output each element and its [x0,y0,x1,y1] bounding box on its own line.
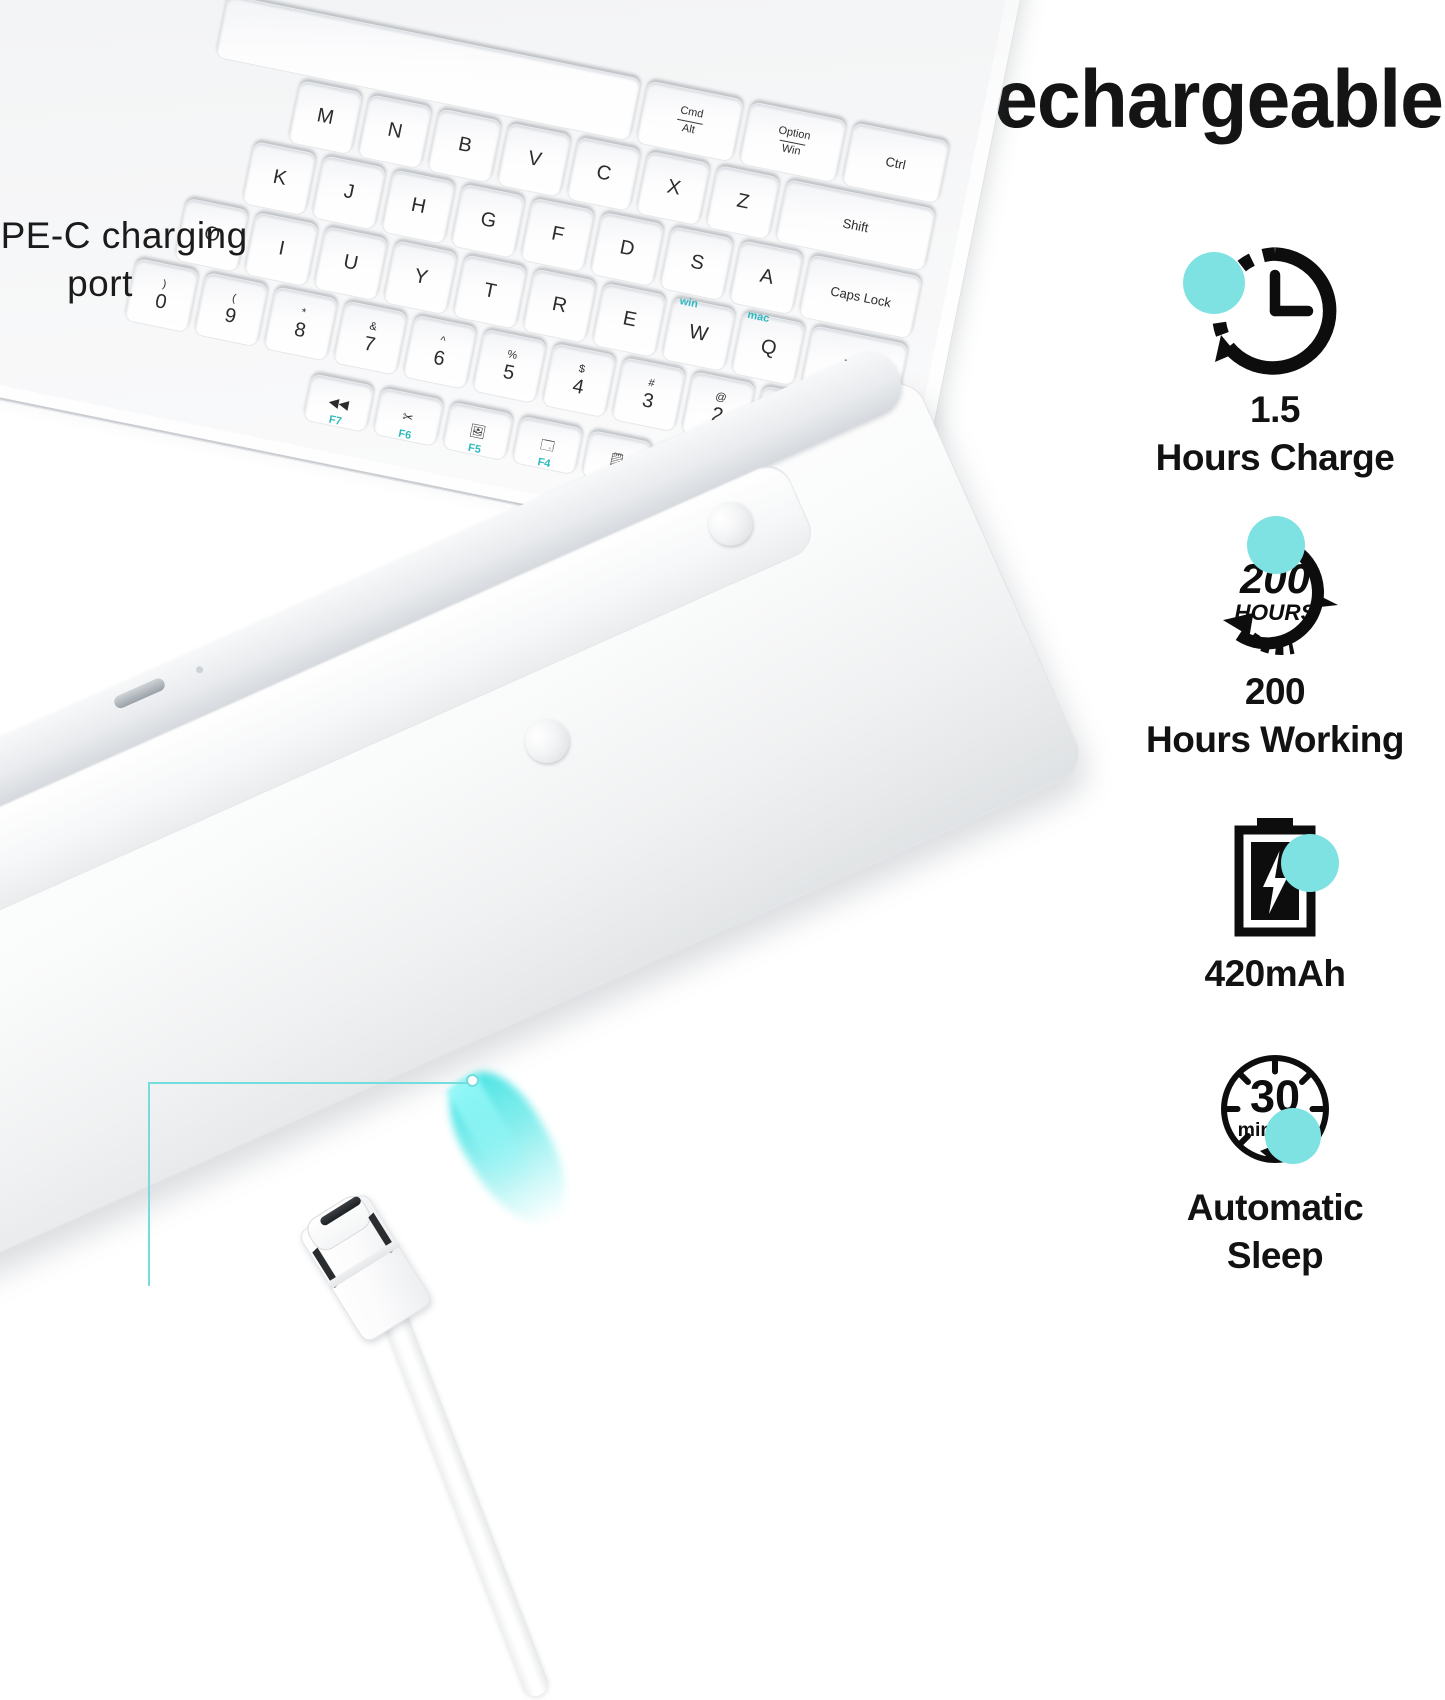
feature-working-time: 200 HOURS 200 Hours Working [1105,518,1445,764]
callout-type-c-charging-port [148,1078,508,1308]
key-h: H [381,169,456,244]
feature-line1: 1.5 [1105,386,1445,434]
key-f: F [520,198,595,273]
battery-life-200-hours-icon: 200 HOURS [1105,518,1445,668]
key-n: N [357,94,432,169]
callout-endpoint-circle-icon [466,1074,479,1087]
key-f7: F7◀◀ [303,373,375,433]
charging-cable [377,1298,552,1699]
feature-automatic-sleep-text: Automatic Sleep [1105,1184,1445,1280]
feature-battery-capacity-text: 420mAh [1105,950,1445,998]
key-a: macA [729,240,804,315]
key-option-win: OptionWin [739,101,848,183]
key-x: X [636,151,711,226]
callout-leader-vertical [148,1082,150,1286]
callout-label: TYPE-C charging port [0,212,250,308]
feature-charge-time-text: 1.5 Hours Charge [1105,386,1445,482]
clock-charge-icon [1105,236,1445,386]
feature-line1: Automatic [1105,1184,1445,1232]
key-s: winS [659,226,734,301]
feature-battery-capacity: 420mAh [1105,800,1445,998]
feature-charge-time: 1.5 Hours Charge [1105,236,1445,482]
key-7: &7 [333,300,408,375]
sleep-timer-30-minutes-icon: 30 minutes [1105,1034,1445,1184]
key-k: K [242,141,317,216]
icon-unit-hours: HOURS [1234,600,1315,625]
key-c: C [566,137,641,212]
key-v: V [496,122,571,197]
key-j: J [311,155,386,230]
key-f6: F6✂ [372,387,444,447]
key-5: %5 [472,329,547,404]
key-f5: F5🖼 [442,401,514,461]
feature-line1: 200 [1105,668,1445,716]
key-3: #3 [611,357,686,432]
callout-leader-horizontal [148,1082,473,1084]
battery-capacity-icon [1105,800,1445,950]
key-6: ^6 [402,314,477,389]
key-f4: F4🗔 [511,416,583,476]
key-t: T [452,254,527,329]
feature-working-time-text: 200 Hours Working [1105,668,1445,764]
sleep-timer-30-minutes-icon-svg: 30 minutes [1200,1034,1350,1184]
key-u: U [313,226,388,301]
rubber-foot [518,712,576,770]
key-4: $4 [541,343,616,418]
key-g: G [450,183,525,258]
callout-label-line1: TYPE-C [0,215,91,256]
key-r: R [522,268,597,343]
key-i: I [244,212,319,287]
key-y: Y [383,240,458,315]
key-m: M [288,80,363,155]
feature-list: 1.5 Hours Charge 200 HOURS 200 Hours Wor… [1105,236,1445,1316]
key-d: D [589,212,664,287]
key-e: E [591,283,666,358]
feature-line2: Hours Charge [1105,434,1445,482]
feature-line1: 420mAh [1105,950,1445,998]
key-b: B [427,108,502,183]
key-cmd-alt: CmdAlt [636,80,745,162]
key-8: *8 [263,286,338,361]
feature-line2: Hours Working [1105,716,1445,764]
callout-label-line2: charging port [67,215,248,304]
feature-automatic-sleep: 30 minutes Automatic Sleep [1105,1034,1445,1280]
feature-line2: Sleep [1105,1232,1445,1280]
key-z: Z [705,165,780,240]
key-ctrl: Ctrl [841,122,950,204]
